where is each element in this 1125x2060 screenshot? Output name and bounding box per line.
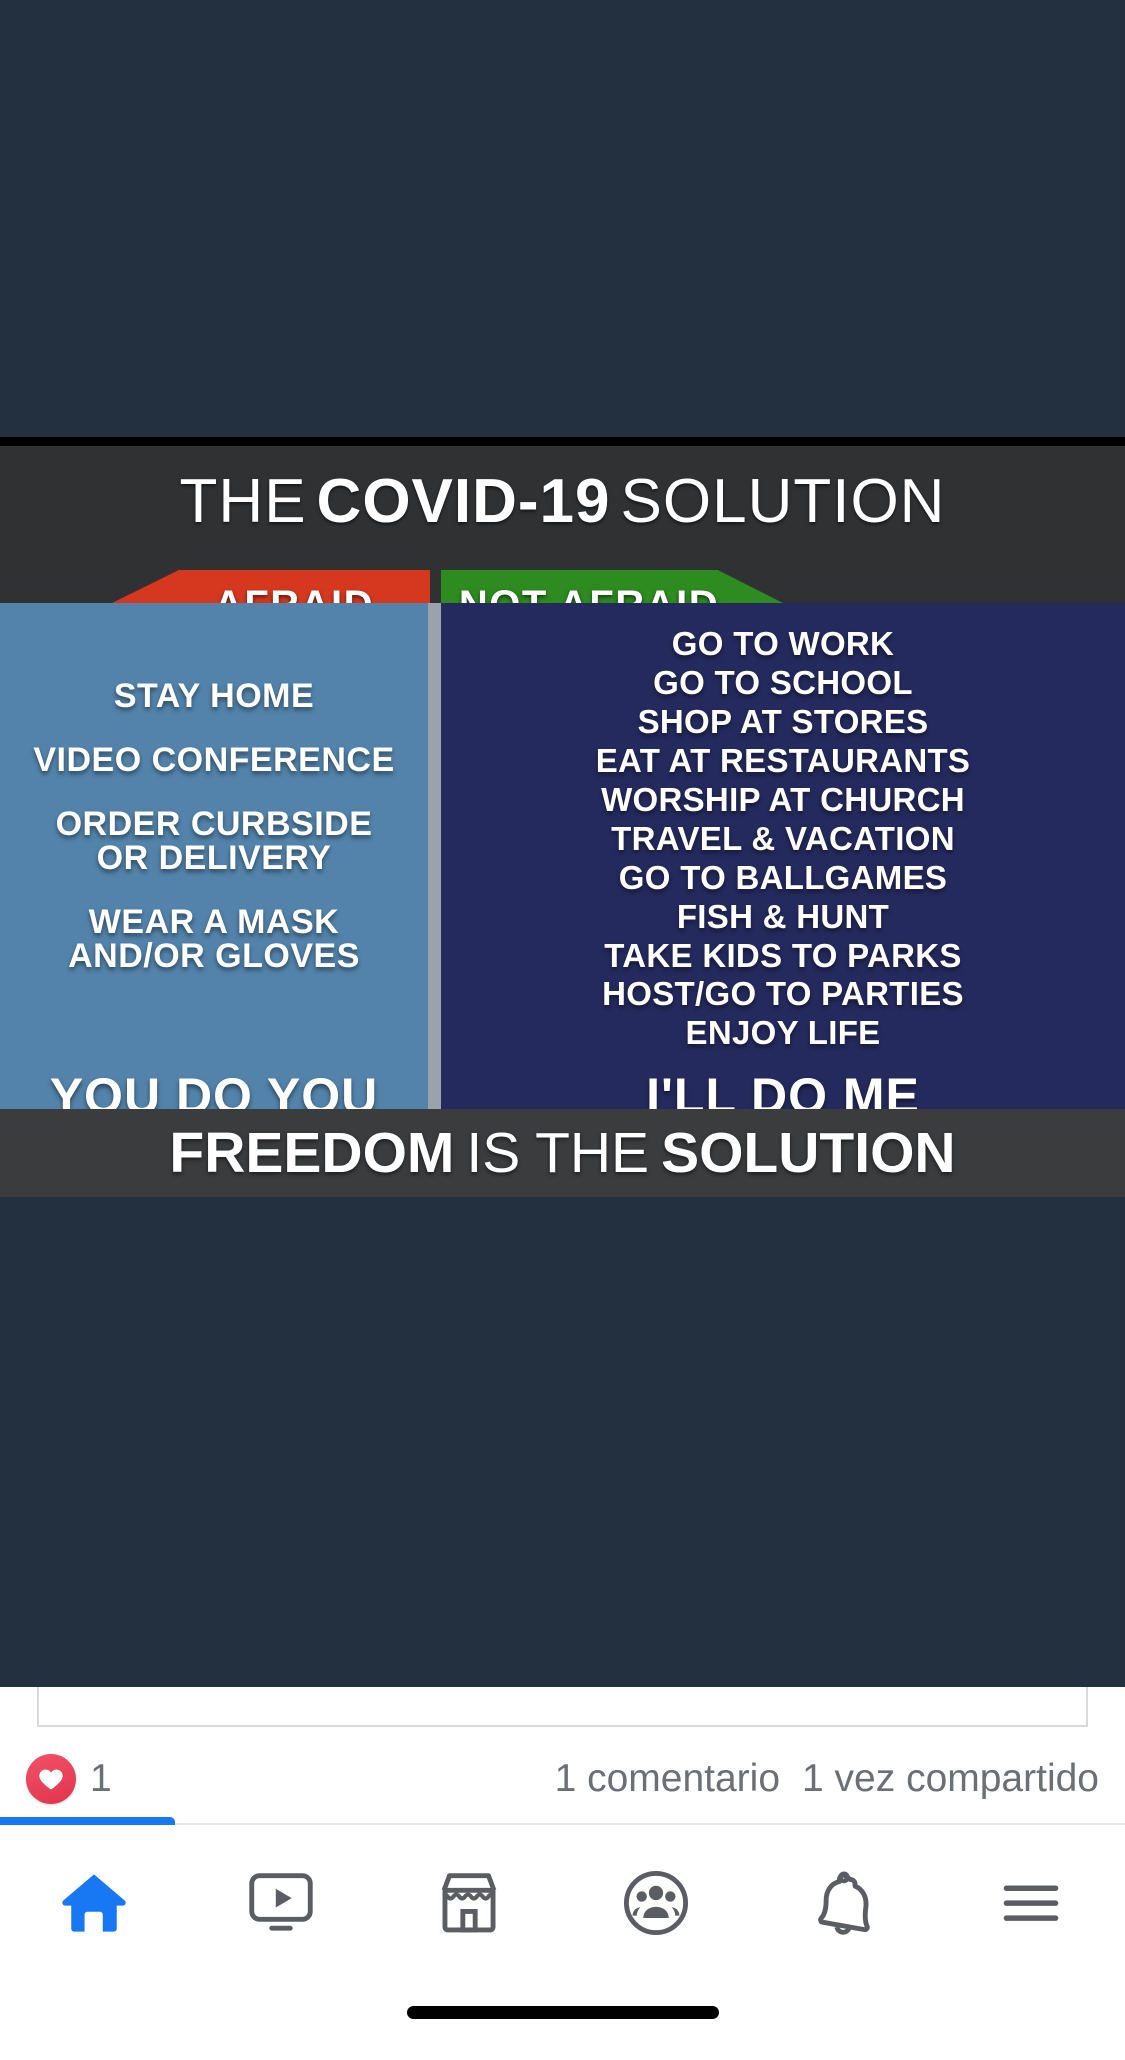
tab-menu[interactable] bbox=[938, 1825, 1125, 1980]
afraid-panel: STAY HOME VIDEO CONFERENCE ORDER CURBSID… bbox=[0, 603, 428, 1143]
meme-title-post: SOLUTION bbox=[621, 466, 946, 537]
afraid-item-1-line1: VIDEO CONFERENCE bbox=[33, 741, 394, 779]
reactions-group[interactable]: 1 bbox=[26, 1754, 112, 1804]
list-item: GO TO WORK bbox=[441, 625, 1125, 664]
list-item: TAKE KIDS TO PARKS bbox=[441, 937, 1125, 976]
not-afraid-panel: GO TO WORK GO TO SCHOOL SHOP AT STORES E… bbox=[441, 603, 1125, 1143]
list-item: STAY HOME bbox=[0, 679, 428, 713]
tab-home[interactable] bbox=[0, 1825, 188, 1980]
afraid-item-2-line1: ORDER CURBSIDE bbox=[56, 805, 373, 843]
list-item: GO TO BALLGAMES bbox=[441, 859, 1125, 898]
list-item: VIDEO CONFERENCE bbox=[0, 743, 428, 777]
list-item: WEAR A MASK AND/OR GLOVES bbox=[0, 905, 428, 973]
groups-people-icon bbox=[617, 1864, 695, 1942]
home-indicator-area bbox=[0, 1980, 1125, 2060]
post-card-strip bbox=[0, 1687, 1125, 1735]
meme-title-emphasis: COVID-19 bbox=[317, 466, 611, 537]
storefront-icon bbox=[430, 1864, 508, 1942]
love-heart-icon bbox=[26, 1754, 76, 1804]
tab-notifications[interactable] bbox=[750, 1825, 938, 1980]
list-item: FISH & HUNT bbox=[441, 898, 1125, 937]
tab-marketplace[interactable] bbox=[375, 1825, 563, 1980]
reaction-count: 1 bbox=[90, 1757, 112, 1801]
tab-groups[interactable] bbox=[563, 1825, 751, 1980]
tab-watch[interactable] bbox=[188, 1825, 376, 1980]
list-item: TRAVEL & VACATION bbox=[441, 820, 1125, 859]
video-play-icon bbox=[242, 1864, 320, 1942]
list-item: ENJOY LIFE bbox=[441, 1014, 1125, 1053]
home-icon bbox=[55, 1864, 133, 1942]
list-item: GO TO SCHOOL bbox=[441, 664, 1125, 703]
meme-title-pre: THE bbox=[180, 466, 307, 537]
list-item: ORDER CURBSIDE OR DELIVERY bbox=[0, 807, 428, 875]
home-indicator-bar[interactable] bbox=[407, 2006, 719, 2019]
post-card-outline bbox=[37, 1687, 1088, 1727]
bottom-tab-bar bbox=[0, 1825, 1125, 1980]
hamburger-menu-icon bbox=[992, 1864, 1070, 1942]
post-media-area[interactable]: THE COVID-19 SOLUTION AFRAID NOT AFRAID … bbox=[0, 0, 1125, 1687]
panel-divider bbox=[428, 603, 441, 1143]
meme-footer-slogan: FREEDOM IS THE SOLUTION bbox=[0, 1109, 1125, 1197]
footer-bold-1: FREEDOM bbox=[169, 1120, 454, 1186]
afraid-item-0-line1: STAY HOME bbox=[114, 677, 314, 715]
meme-image[interactable]: THE COVID-19 SOLUTION AFRAID NOT AFRAID … bbox=[0, 437, 1125, 1197]
afraid-item-3-line1: WEAR A MASK bbox=[89, 903, 339, 941]
phone-screen: THE COVID-19 SOLUTION AFRAID NOT AFRAID … bbox=[0, 0, 1125, 2060]
afraid-item-3-line2: AND/OR GLOVES bbox=[0, 939, 428, 973]
afraid-item-list: STAY HOME VIDEO CONFERENCE ORDER CURBSID… bbox=[0, 679, 428, 1003]
bell-icon bbox=[805, 1864, 883, 1942]
list-item: WORSHIP AT CHURCH bbox=[441, 781, 1125, 820]
footer-thin: IS THE bbox=[466, 1120, 649, 1186]
footer-bold-2: SOLUTION bbox=[661, 1120, 956, 1186]
comment-count[interactable]: 1 comentario bbox=[555, 1757, 780, 1801]
engagement-meta: 1 comentario 1 vez compartido bbox=[555, 1757, 1099, 1801]
comparison-panels: STAY HOME VIDEO CONFERENCE ORDER CURBSID… bbox=[0, 603, 1125, 1143]
engagement-bar: 1 1 comentario 1 vez compartido bbox=[0, 1735, 1125, 1823]
afraid-item-2-line2: OR DELIVERY bbox=[0, 841, 428, 875]
meme-title: THE COVID-19 SOLUTION bbox=[0, 446, 1125, 556]
list-item: EAT AT RESTAURANTS bbox=[441, 742, 1125, 781]
meme-top-border bbox=[0, 437, 1125, 446]
list-item: SHOP AT STORES bbox=[441, 703, 1125, 742]
list-item: HOST/GO TO PARTIES bbox=[441, 975, 1125, 1014]
not-afraid-item-list: GO TO WORK GO TO SCHOOL SHOP AT STORES E… bbox=[441, 625, 1125, 1053]
share-count[interactable]: 1 vez compartido bbox=[802, 1757, 1099, 1801]
